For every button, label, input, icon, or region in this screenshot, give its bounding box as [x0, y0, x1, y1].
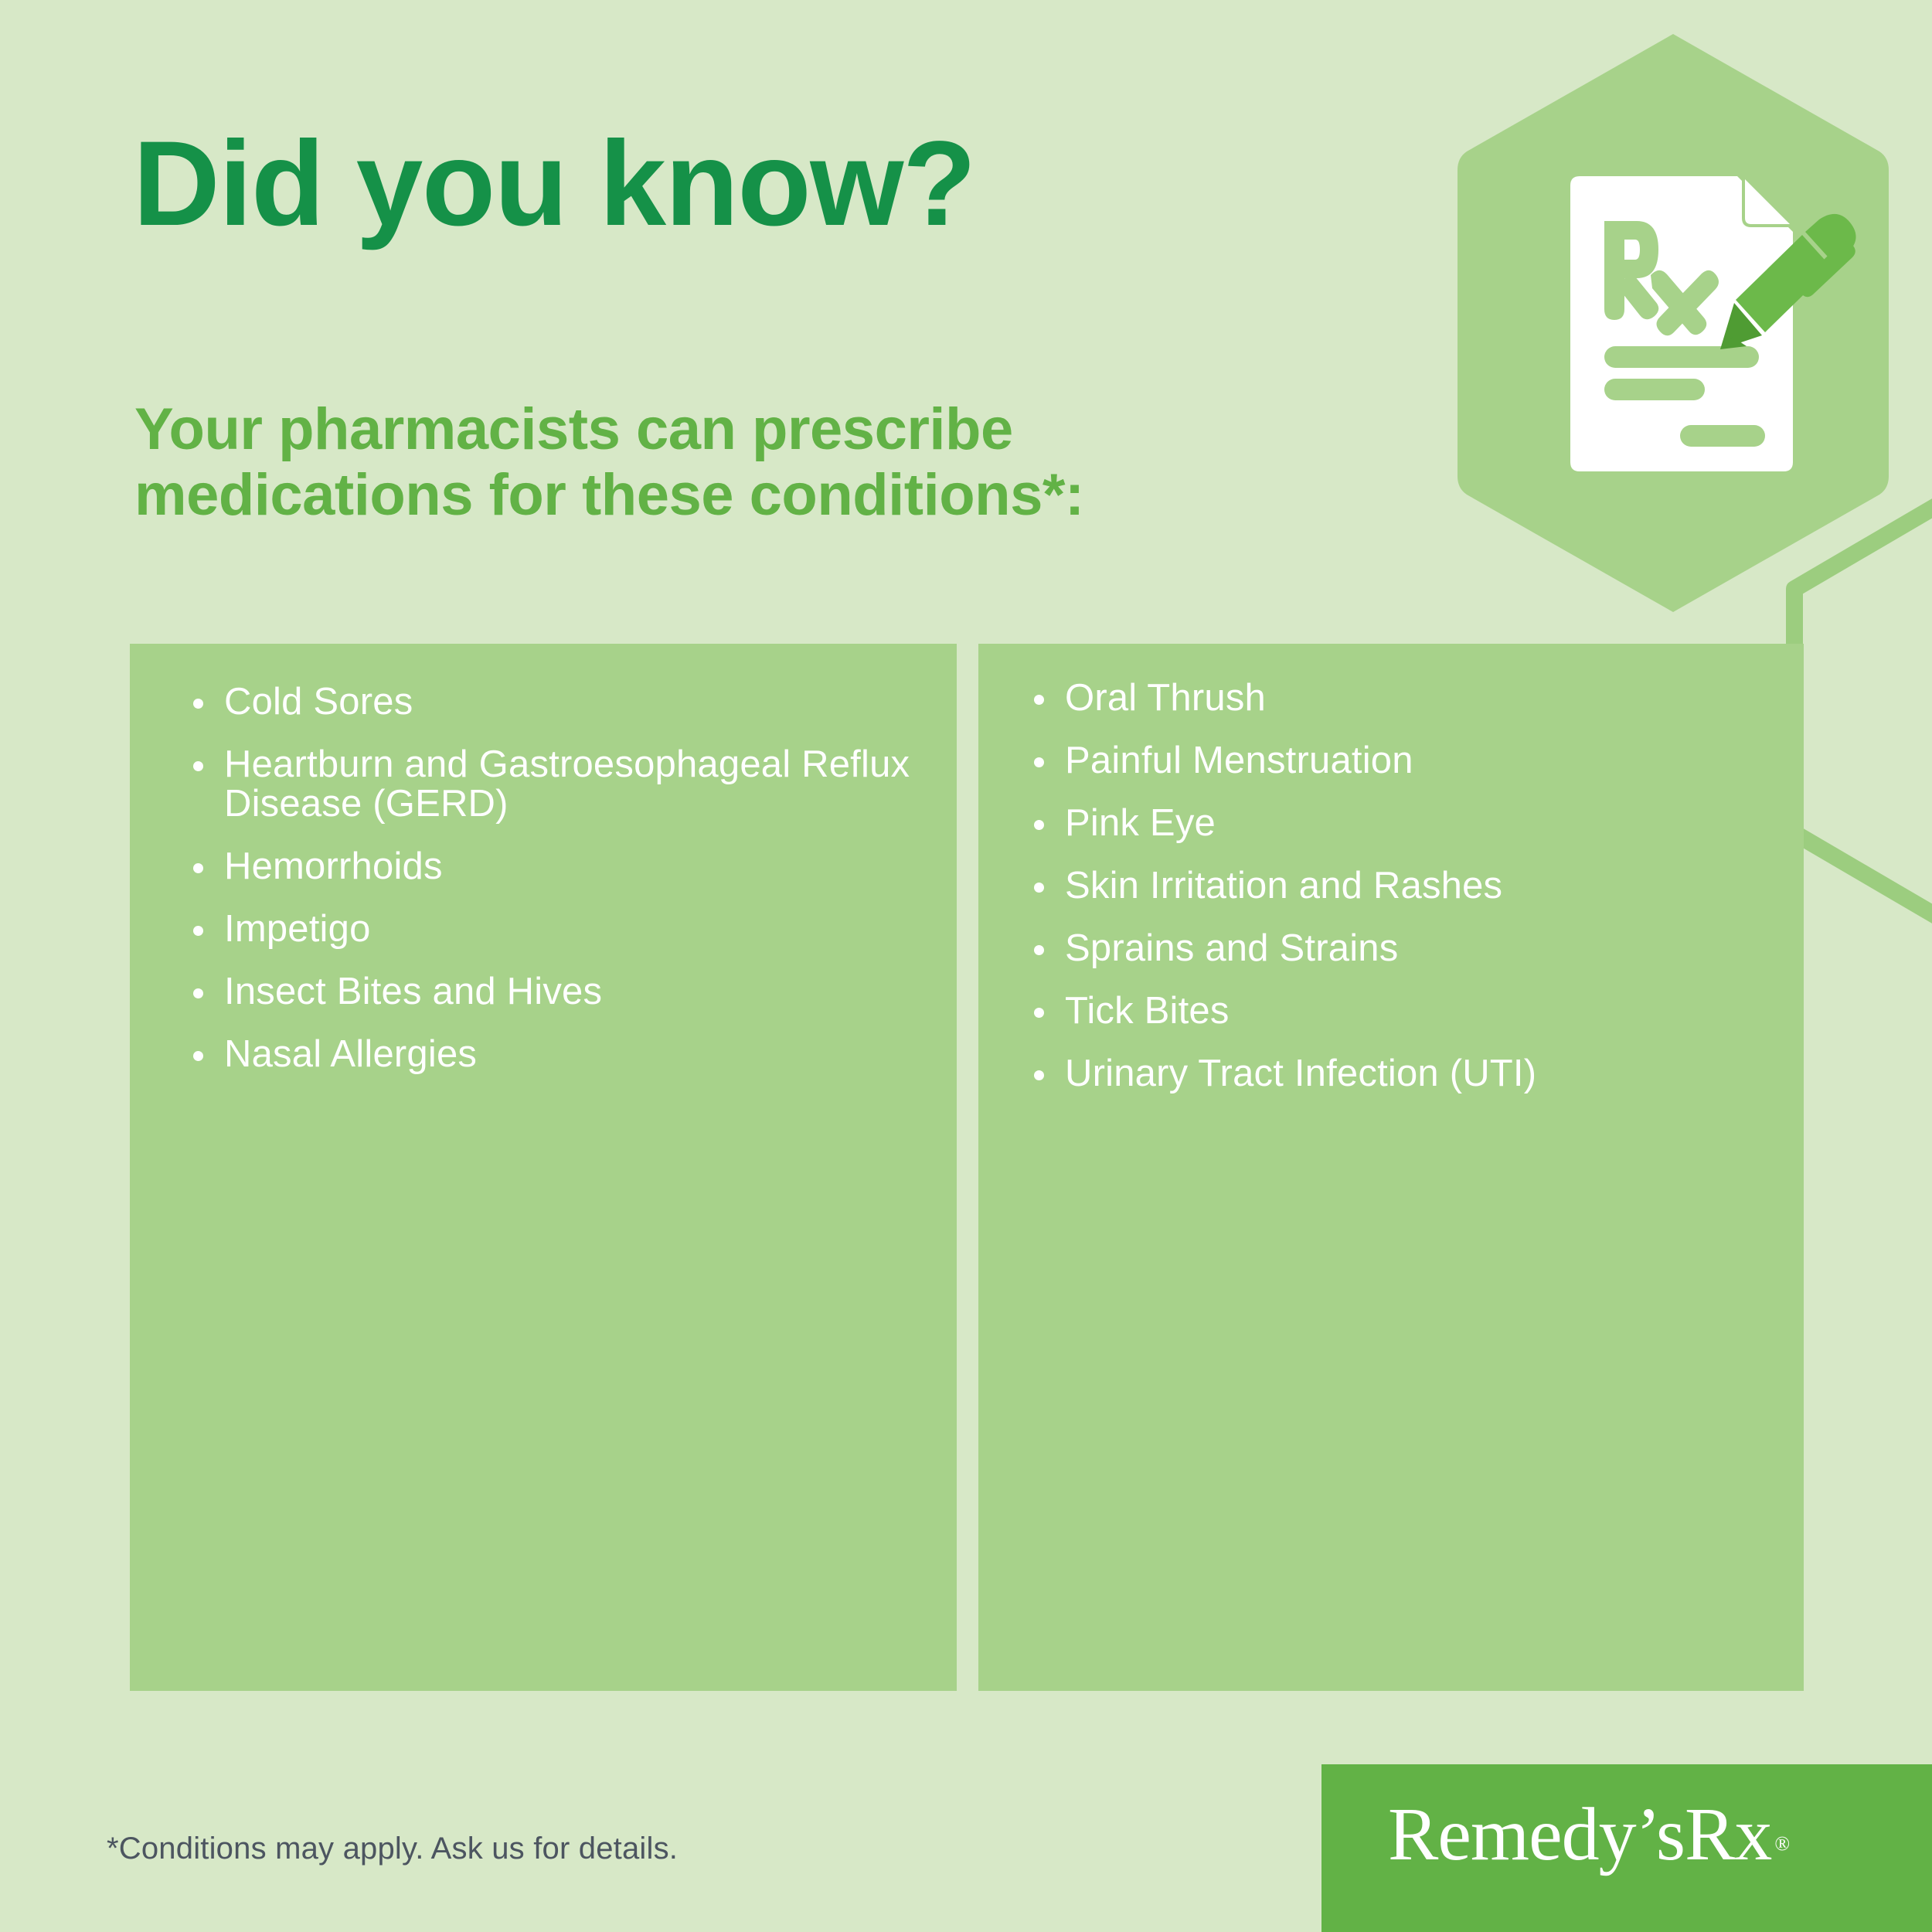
subheading-line-1: Your pharmacists can prescribe [134, 396, 1084, 462]
footnote-disclaimer: *Conditions may apply. Ask us for detail… [107, 1832, 678, 1866]
condition-label: Sprains and Strains [1065, 929, 1773, 968]
bullet-icon [193, 926, 203, 936]
list-item: Tick Bites [1031, 992, 1773, 1031]
bullet-icon [1034, 945, 1044, 955]
bullet-icon [1034, 1070, 1044, 1080]
list-item: Painful Menstruation [1031, 741, 1773, 781]
bullet-icon [193, 988, 203, 998]
condition-label: Tick Bites [1065, 992, 1773, 1031]
bullet-icon [193, 863, 203, 873]
list-item: Insect Bites and Hives [190, 972, 917, 1012]
conditions-panel-right: Oral Thrush Painful Menstruation Pink Ey… [978, 644, 1804, 1691]
condition-label: Urinary Tract Infection (UTI) [1065, 1054, 1773, 1094]
condition-label: Hemorrhoids [224, 847, 917, 886]
subheading-line-2: medications for these conditions*: [134, 462, 1084, 528]
condition-label: Cold Sores [224, 682, 917, 722]
condition-label: Painful Menstruation [1065, 741, 1773, 781]
prescription-rx-document-with-pen-icon [1570, 176, 1856, 471]
list-item: Sprains and Strains [1031, 929, 1773, 968]
list-item: Nasal Allergies [190, 1035, 917, 1074]
condition-label: Insect Bites and Hives [224, 972, 917, 1012]
condition-label: Oral Thrush [1065, 679, 1773, 718]
conditions-list-left: Cold Sores Heartburn and Gastroesophagea… [190, 682, 917, 1074]
brand-logo-block: Remedy’sRx® [1321, 1764, 1932, 1932]
brand-wordmark: Remedy’sRx® [1388, 1797, 1789, 1872]
bullet-icon [1034, 820, 1044, 830]
list-item: Heartburn and Gastroesophageal Reflux Di… [190, 745, 917, 824]
condition-label: Impetigo [224, 910, 917, 949]
list-item: Impetigo [190, 910, 917, 949]
bullet-icon [1034, 695, 1044, 705]
condition-label: Skin Irritation and Rashes [1065, 866, 1773, 906]
list-item: Skin Irritation and Rashes [1031, 866, 1773, 906]
hexagon-badge-icon [1453, 29, 1893, 617]
bullet-icon [1034, 883, 1044, 893]
conditions-panel-left: Cold Sores Heartburn and Gastroesophagea… [130, 644, 957, 1691]
bullet-icon [1034, 757, 1044, 767]
list-item: Cold Sores [190, 682, 917, 722]
bullet-icon [193, 761, 203, 771]
bullet-icon [193, 699, 203, 709]
bullet-icon [193, 1051, 203, 1061]
registered-trademark-icon: ® [1774, 1832, 1789, 1855]
subheading: Your pharmacists can prescribe medicatio… [134, 396, 1084, 528]
infographic-poster: Did you know? Your pharmacists can presc… [0, 0, 1932, 1932]
conditions-list-right: Oral Thrush Painful Menstruation Pink Ey… [1031, 679, 1773, 1094]
brand-wordmark-text: Remedy’sRx [1388, 1793, 1771, 1876]
condition-label: Heartburn and Gastroesophageal Reflux Di… [224, 745, 917, 824]
list-item: Oral Thrush [1031, 679, 1773, 718]
list-item: Hemorrhoids [190, 847, 917, 886]
list-item: Pink Eye [1031, 804, 1773, 843]
list-item: Urinary Tract Infection (UTI) [1031, 1054, 1773, 1094]
condition-label: Pink Eye [1065, 804, 1773, 843]
page-title: Did you know? [133, 124, 975, 244]
bullet-icon [1034, 1008, 1044, 1018]
condition-label: Nasal Allergies [224, 1035, 917, 1074]
